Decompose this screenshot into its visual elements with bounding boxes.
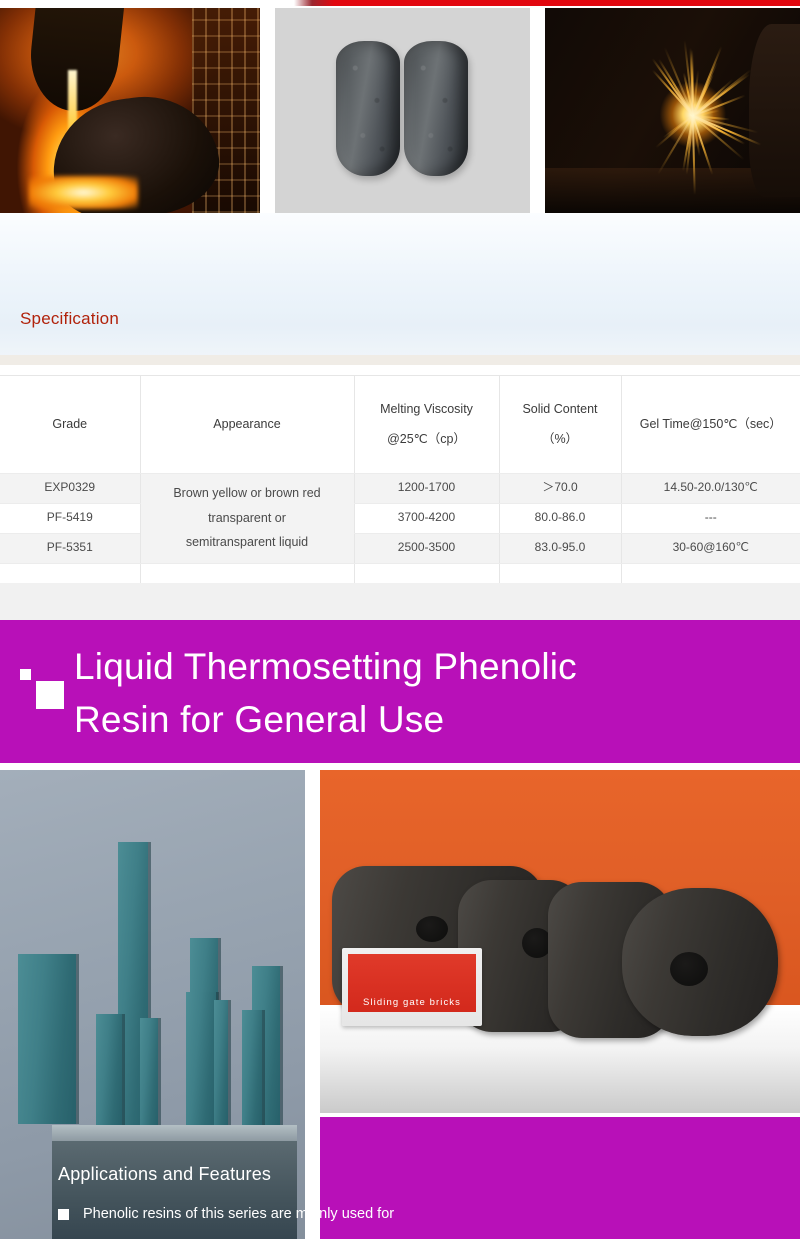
cell-grade: PF-5419 xyxy=(0,503,140,533)
product-label-sign: Sliding gate bricks xyxy=(342,948,482,1026)
appearance-line-2: transparent or xyxy=(147,506,348,530)
section-divider xyxy=(0,763,800,770)
header-solid-content-line2: （%） xyxy=(506,430,615,448)
cell-gel-time: 14.50-20.0/130℃ xyxy=(621,473,800,503)
molten-metal-pour-photo xyxy=(0,8,260,213)
hero-image-strip xyxy=(0,8,800,213)
table-bottom-fill xyxy=(0,583,800,620)
header-grade-label: Grade xyxy=(6,415,134,433)
cell-solid-content: ＞70.0 xyxy=(499,473,621,503)
sliding-gate-bricks-photo: Sliding gate bricks xyxy=(320,770,800,1115)
product-title-line-1: Liquid Thermosetting Phenolic xyxy=(74,641,774,694)
cell-grade: EXP0329 xyxy=(0,473,140,503)
applications-title: Applications and Features xyxy=(58,1164,271,1185)
product-title-line-2: Resin for General Use xyxy=(74,694,774,747)
header-appearance: Appearance xyxy=(140,375,354,473)
header-melting-viscosity-line2: @25℃（cp） xyxy=(361,430,493,448)
specification-table: Grade Appearance Melting Viscosity @25℃（… xyxy=(0,375,800,608)
table-header-row: Grade Appearance Melting Viscosity @25℃（… xyxy=(0,375,800,473)
header-solid-content-line1: Solid Content xyxy=(506,400,615,418)
header-gel-time: Gel Time@150℃（sec） xyxy=(621,375,800,473)
product-datasheet-page: Specification Grade Appearance Melting V… xyxy=(0,0,800,1239)
header-solid-content: Solid Content （%） xyxy=(499,375,621,473)
double-square-bullet-icon xyxy=(20,669,64,709)
cell-viscosity: 2500-3500 xyxy=(354,533,499,563)
cell-gel-time: --- xyxy=(621,503,800,533)
header-gel-time-label: Gel Time@150℃（sec） xyxy=(628,415,795,433)
page-title: Specification xyxy=(20,309,119,329)
cell-grade: PF-5351 xyxy=(0,533,140,563)
appearance-line-1: Brown yellow or brown red xyxy=(147,481,348,505)
header-appearance-label: Appearance xyxy=(147,415,348,433)
table-row: EXP0329 Brown yellow or brown red transp… xyxy=(0,473,800,503)
table-row: PF-5351 2500-3500 83.0-95.0 30-60@160℃ xyxy=(0,533,800,563)
square-bullet-icon xyxy=(58,1209,69,1220)
carbon-briquettes-photo xyxy=(275,8,530,213)
header-grade: Grade xyxy=(0,375,140,473)
appearance-line-3: semitransparent liquid xyxy=(147,530,348,554)
column-gap xyxy=(305,770,320,1239)
table-row: PF-5419 3700-4200 80.0-86.0 --- xyxy=(0,503,800,533)
applications-bullet-item: Phenolic resins of this series are mainl… xyxy=(58,1206,758,1222)
top-accent-bar xyxy=(330,0,800,6)
refractory-slab xyxy=(52,1125,297,1141)
specification-band xyxy=(0,213,800,365)
welding-sparks-photo xyxy=(545,8,800,213)
header-melting-viscosity-line1: Melting Viscosity xyxy=(361,400,493,418)
product-title: Liquid Thermosetting Phenolic Resin for … xyxy=(74,641,774,746)
sign-text: Sliding gate bricks xyxy=(363,997,461,1012)
cell-appearance: Brown yellow or brown red transparent or… xyxy=(140,473,354,563)
applications-bullet-text: Phenolic resins of this series are mainl… xyxy=(83,1206,394,1222)
refractory-base-block xyxy=(52,1138,297,1239)
cell-solid-content: 83.0-95.0 xyxy=(499,533,621,563)
cell-viscosity: 3700-4200 xyxy=(354,503,499,533)
cell-gel-time: 30-60@160℃ xyxy=(621,533,800,563)
header-melting-viscosity: Melting Viscosity @25℃（cp） xyxy=(354,375,499,473)
cell-viscosity: 1200-1700 xyxy=(354,473,499,503)
cell-solid-content: 80.0-86.0 xyxy=(499,503,621,533)
